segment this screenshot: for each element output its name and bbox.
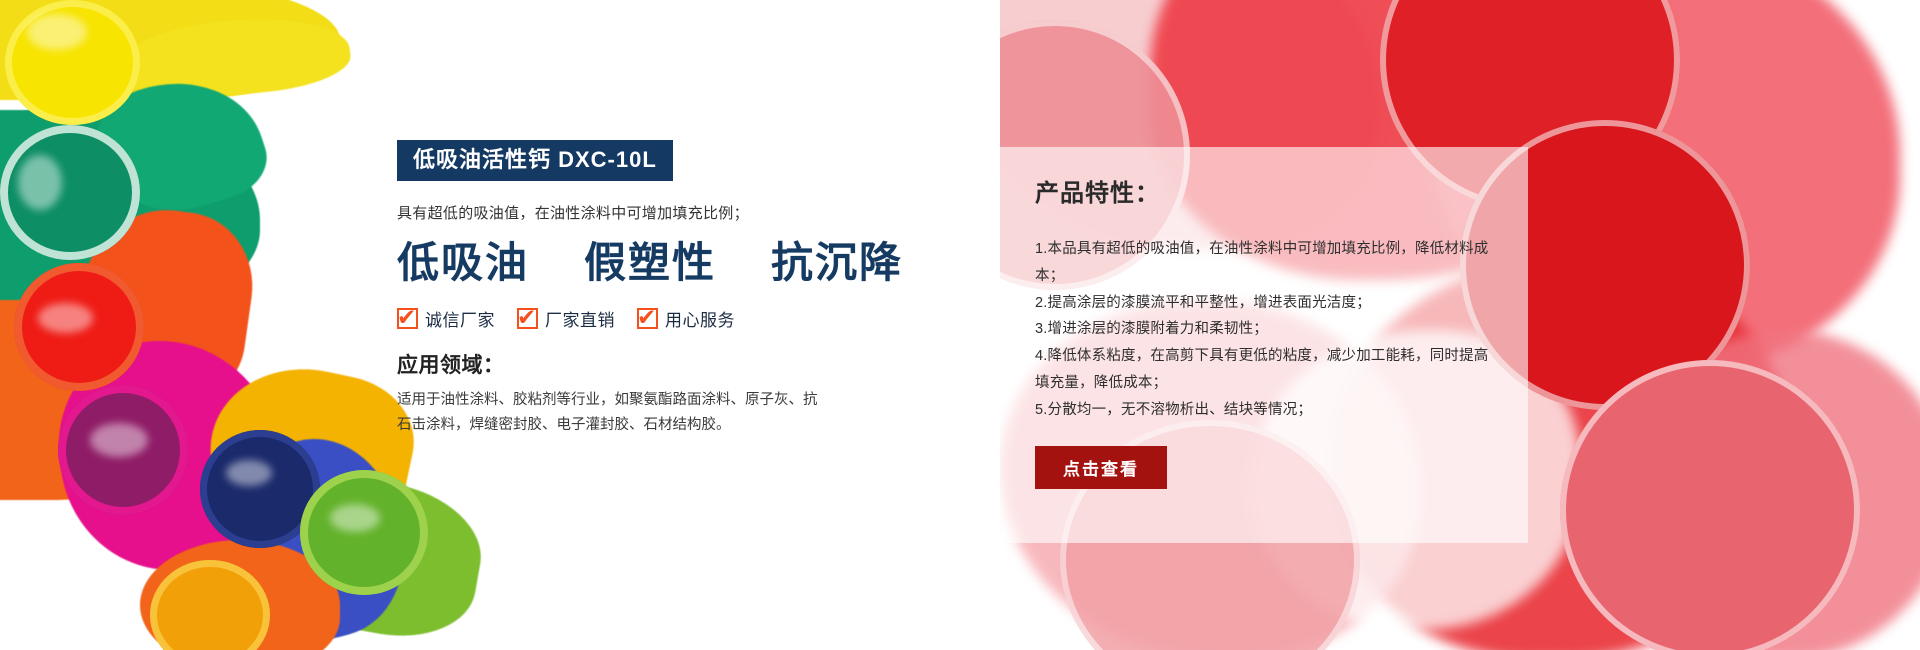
check-box-icon: ✔ <box>397 308 418 329</box>
red-dish-lower-right <box>1560 360 1860 650</box>
feature-item: 4.降低体系粘度，在高剪下具有更低的粘度，减少加工能耗，同时提高填充量，降低成本… <box>1035 343 1494 397</box>
feature-badges: ✔ 诚信厂家 ✔ 厂家直销 ✔ 用心服务 <box>397 306 957 331</box>
badge-label: 厂家直销 <box>545 306 615 331</box>
badge-label: 用心服务 <box>665 306 735 331</box>
dish-ring <box>1560 360 1860 650</box>
feature-item: 3.增进涂层的漆膜附着力和柔韧性； <box>1035 316 1494 343</box>
product-banner: 低吸油活性钙 DXC-10L 具有超低的吸油值，在油性涂料中可增加填充比例； 低… <box>0 0 1920 650</box>
badge-honest-manufacturer: ✔ 诚信厂家 <box>397 306 495 331</box>
product-title-bar: 低吸油活性钙 DXC-10L <box>397 140 673 181</box>
paint-pot-lime <box>300 470 428 595</box>
left-content-block: 低吸油活性钙 DXC-10L 具有超低的吸油值，在油性涂料中可增加填充比例； 低… <box>397 140 957 439</box>
application-area-body: 适用于油性涂料、胶粘剂等行业，如聚氨酯路面涂料、原子灰、抗石击涂料，焊缝密封胶、… <box>397 388 822 439</box>
pot-gloss <box>330 504 380 532</box>
feature-item: 5.分散均一，无不溶物析出、结块等情况； <box>1035 397 1494 424</box>
paint-pot-purple <box>58 385 188 515</box>
view-details-button[interactable]: 点击查看 <box>1035 446 1167 489</box>
paint-pot-green <box>0 125 140 260</box>
paint-pot-yellow <box>5 0 140 125</box>
headline-part-2: 假塑性 <box>584 240 716 288</box>
badge-label: 诚信厂家 <box>425 306 495 331</box>
check-box-icon: ✔ <box>517 308 538 329</box>
feature-item: 2.提高涂层的漆膜流平和平整性，增进表面光洁度； <box>1035 290 1494 317</box>
headline: 低吸油 假塑性 抗沉降 <box>397 240 957 288</box>
product-subtitle: 具有超低的吸油值，在油性涂料中可增加填充比例； <box>397 203 957 226</box>
headline-part-1: 低吸油 <box>397 240 529 288</box>
feature-item: 1.本品具有超低的吸油值，在油性涂料中可增加填充比例，降低材料成本； <box>1035 236 1494 290</box>
pot-gloss <box>18 155 62 210</box>
product-features-panel: 产品特性： 1.本品具有超低的吸油值，在油性涂料中可增加填充比例，降低材料成本；… <box>983 147 1528 543</box>
pot-gloss <box>38 303 93 333</box>
panel-inner: 产品特性： 1.本品具有超低的吸油值，在油性涂料中可增加填充比例，降低材料成本；… <box>983 147 1528 489</box>
paint-pot-red <box>14 263 144 391</box>
badge-factory-direct: ✔ 厂家直销 <box>517 306 615 331</box>
pot-gloss <box>226 460 272 486</box>
feature-list: 1.本品具有超低的吸油值，在油性涂料中可增加填充比例，降低材料成本； 2.提高涂… <box>1035 236 1494 424</box>
application-area-title: 应用领域： <box>397 349 957 379</box>
pot-gloss <box>27 14 87 50</box>
panel-title: 产品特性： <box>1035 173 1494 208</box>
pot-gloss <box>90 423 148 457</box>
badge-attentive-service: ✔ 用心服务 <box>637 306 735 331</box>
check-box-icon: ✔ <box>637 308 658 329</box>
headline-part-3: 抗沉降 <box>771 240 903 288</box>
